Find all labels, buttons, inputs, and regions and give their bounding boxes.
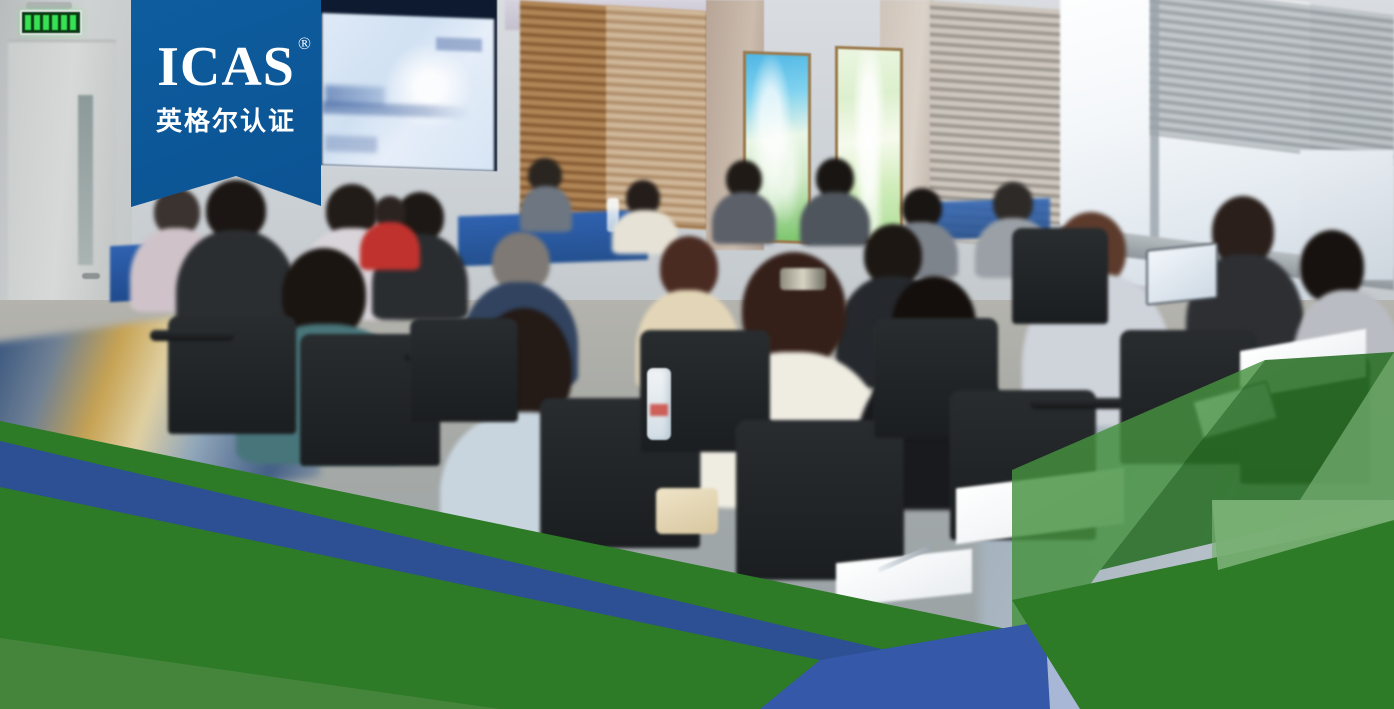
icas-event-banner: ICAS ® 英格尔认证	[0, 0, 1394, 709]
attendee-back-1	[520, 158, 572, 228]
snack-bag	[656, 488, 718, 534]
slide-footer-text	[325, 135, 377, 153]
chair-3	[410, 318, 518, 422]
chair-arm-4	[1030, 398, 1126, 409]
hair-clip-accessory	[780, 268, 826, 290]
chair-11	[1012, 228, 1108, 324]
slide-logo-icon	[436, 37, 482, 52]
exit-sign-icon	[20, 10, 82, 35]
water-bottle-foreground	[647, 368, 671, 440]
torso	[520, 186, 572, 232]
chair-arm-1	[150, 330, 234, 341]
emergency-lamp	[26, 2, 72, 9]
attendee-back-3	[712, 160, 776, 240]
room-door	[8, 40, 116, 342]
chair-6	[736, 420, 904, 580]
laptop-screen	[1146, 242, 1218, 306]
door-glass-panel	[78, 95, 93, 265]
exit-sign-glyphs	[25, 15, 77, 30]
door-handle	[82, 273, 100, 279]
